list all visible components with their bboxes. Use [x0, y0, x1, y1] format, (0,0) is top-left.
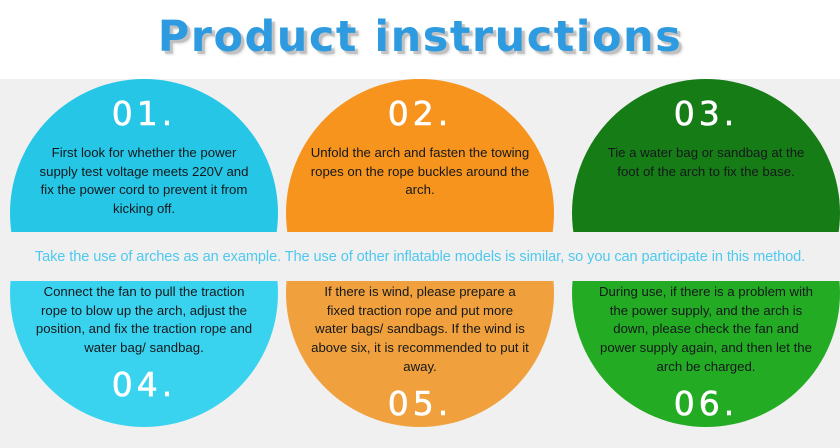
step-text-02: Unfold the arch and fasten the towing ro…: [304, 144, 536, 200]
step-circle-05: If there is wind, please prepare a fixed…: [286, 281, 554, 427]
step-circle-03: 03. Tie a water bag or sandbag at the fo…: [572, 79, 840, 232]
step-circle-01-content: 01. First look for whether the power sup…: [10, 97, 278, 219]
step-number-05: 05.: [304, 387, 536, 420]
step-text-01: First look for whether the power supply …: [28, 144, 260, 219]
step-circle-04: Connect the fan to pull the traction rop…: [10, 281, 278, 427]
content-panel: 01. First look for whether the power sup…: [0, 79, 840, 448]
step-number-04: 04.: [28, 368, 260, 401]
banner: Take the use of arches as an example. Th…: [0, 232, 840, 281]
step-number-01: 01.: [28, 97, 260, 130]
step-circle-01: 01. First look for whether the power sup…: [10, 79, 278, 232]
step-circle-05-content: If there is wind, please prepare a fixed…: [286, 283, 554, 420]
banner-text: Take the use of arches as an example. Th…: [29, 249, 811, 265]
step-text-03: Tie a water bag or sandbag at the foot o…: [590, 144, 822, 181]
step-circle-03-content: 03. Tie a water bag or sandbag at the fo…: [572, 97, 840, 181]
page-title: Product instructions: [158, 16, 683, 63]
step-circle-04-content: Connect the fan to pull the traction rop…: [10, 283, 278, 401]
step-number-02: 02.: [304, 97, 536, 130]
step-text-04: Connect the fan to pull the traction rop…: [28, 283, 260, 358]
step-circle-02: 02. Unfold the arch and fasten the towin…: [286, 79, 554, 232]
steps-row-top: 01. First look for whether the power sup…: [0, 79, 840, 232]
product-instructions-poster: Product instructions 01. First look for …: [0, 0, 840, 448]
step-circle-06-content: During use, if there is a problem with t…: [572, 283, 840, 420]
step-circle-06: During use, if there is a problem with t…: [572, 281, 840, 427]
steps-row-bottom: Connect the fan to pull the traction rop…: [0, 281, 840, 427]
poster-header: Product instructions: [0, 0, 840, 79]
step-circle-02-content: 02. Unfold the arch and fasten the towin…: [286, 97, 554, 200]
step-text-06: During use, if there is a problem with t…: [590, 283, 822, 377]
step-number-06: 06.: [590, 387, 822, 420]
step-text-05: If there is wind, please prepare a fixed…: [304, 283, 536, 377]
step-number-03: 03.: [590, 97, 822, 130]
